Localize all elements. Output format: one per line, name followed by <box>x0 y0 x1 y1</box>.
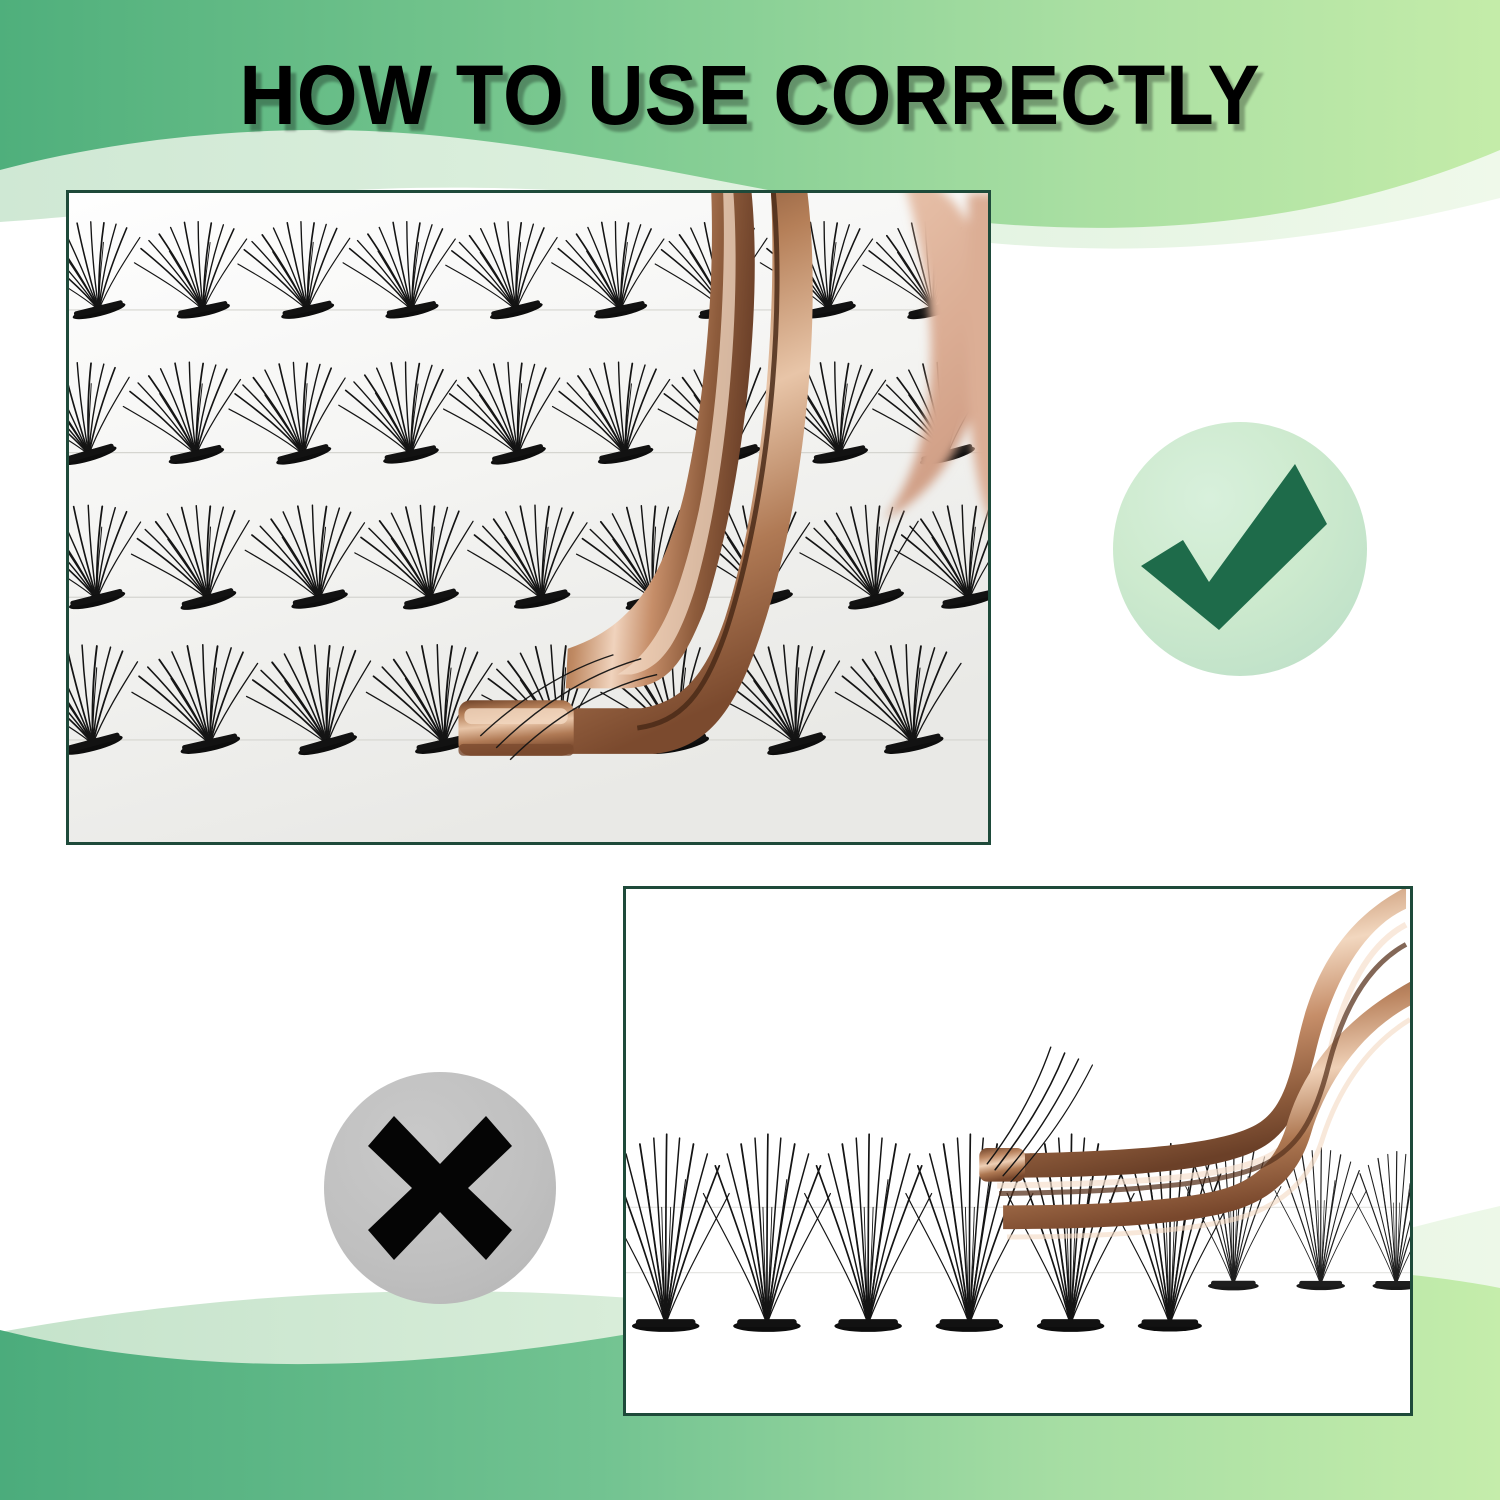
photo-correct-usage-image <box>69 193 988 842</box>
photo-correct-usage <box>66 190 991 845</box>
poster-root: HOW TO USE CORRECTLY <box>0 0 1500 1500</box>
photo-wrong-usage-image <box>626 889 1410 1413</box>
status-badge-wrong <box>324 1072 556 1304</box>
status-badge-correct <box>1113 422 1367 676</box>
cross-icon <box>324 1072 556 1304</box>
photo-wrong-usage <box>623 886 1413 1416</box>
check-icon <box>1113 422 1367 676</box>
page-title: HOW TO USE CORRECTLY <box>53 48 1448 142</box>
